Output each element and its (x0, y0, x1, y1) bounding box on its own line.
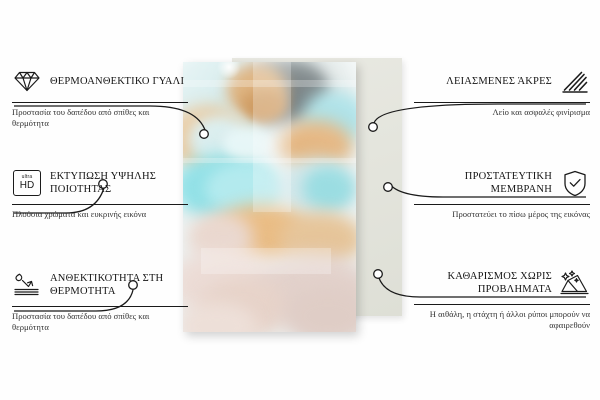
feature-title: ΛΕΙΑΣΜΕΝΕΣ ΆΚΡΕΣ (446, 75, 552, 88)
polished-edges-icon (560, 66, 590, 96)
feature-header: ΑΝΘΕΚΤΙΚΟΤΗΤΑ ΣΤΗ ΘΕΡΜΟΤΗΤΑ (12, 268, 188, 302)
heat-resistance-icon (12, 270, 42, 300)
feature-description: Προστατεύει το πίσω μέρος της εικόνας (414, 209, 590, 220)
divider (12, 102, 188, 103)
feature-description: Η αιθάλη, η στάχτη ή άλλοι ρύποι μπορούν… (414, 309, 590, 331)
shield-check-icon (560, 168, 590, 198)
feature-title: ΠΡΟΣΤΑΤΕΥΤΙΚΗ ΜΕΜΒΡΑΝΗ (414, 170, 552, 196)
feature-header: ΘΕΡΜΟΑΝΘΕΚΤΙΚΟ ΓΥΑΛΙ (12, 64, 188, 98)
product-illustration (180, 58, 410, 348)
feature-header: ultra HD ΕΚΤΥΠΩΣΗ ΥΨΗΛΗΣ ΠΟΙΟΤΗΤΑΣ (12, 166, 188, 200)
divider (414, 304, 590, 305)
divider (414, 102, 590, 103)
feature-block-protective-film[interactable]: ΠΡΟΣΤΑΤΕΥΤΙΚΗ ΜΕΜΒΡΑΝΗ Προστατεύει το πί… (414, 166, 590, 220)
feature-block-thermal-glass[interactable]: ΘΕΡΜΟΑΝΘΕΚΤΙΚΟ ΓΥΑΛΙ Προστασία του δαπέδ… (12, 64, 188, 129)
infographic-canvas: ΘΕΡΜΟΑΝΘΕΚΤΙΚΟ ΓΥΑΛΙ Προστασία του δαπέδ… (0, 0, 600, 400)
feature-header: ΛΕΙΑΣΜΕΝΕΣ ΆΚΡΕΣ (414, 64, 590, 98)
feature-block-heat-resistance[interactable]: ΑΝΘΕΚΤΙΚΟΤΗΤΑ ΣΤΗ ΘΕΡΜΟΤΗΤΑ Προστασία το… (12, 268, 188, 333)
marble-ink-artwork (183, 62, 356, 332)
feature-title: ΕΚΤΥΠΩΣΗ ΥΨΗΛΗΣ ΠΟΙΟΤΗΤΑΣ (50, 170, 188, 196)
ultra-hd-icon: ultra HD (12, 168, 42, 198)
ultra-hd-large-label: HD (20, 181, 34, 191)
feature-title: ΚΑΘΑΡΙΣΜΟΣ ΧΩΡΙΣ ΠΡΟΒΛΗΜΑΤΑ (414, 270, 552, 296)
diamond-icon (12, 66, 42, 96)
feature-description: Λείο και ασφαλές φινίρισμα (414, 107, 590, 118)
feature-description: Προστασία του δαπέδου από σπίθες και θερ… (12, 311, 188, 333)
feature-header: ΚΑΘΑΡΙΣΜΟΣ ΧΩΡΙΣ ΠΡΟΒΛΗΜΑΤΑ (414, 266, 590, 300)
divider (12, 306, 188, 307)
feature-block-polished-edges[interactable]: ΛΕΙΑΣΜΕΝΕΣ ΆΚΡΕΣ Λείο και ασφαλές φινίρι… (414, 64, 590, 118)
feature-block-hd-print[interactable]: ultra HD ΕΚΤΥΠΩΣΗ ΥΨΗΛΗΣ ΠΟΙΟΤΗΤΑΣ Πλούσ… (12, 166, 188, 220)
easy-clean-icon (560, 268, 590, 298)
feature-header: ΠΡΟΣΤΑΤΕΥΤΙΚΗ ΜΕΜΒΡΑΝΗ (414, 166, 590, 200)
divider (12, 204, 188, 205)
feature-title: ΘΕΡΜΟΑΝΘΕΚΤΙΚΟ ΓΥΑΛΙ (50, 75, 184, 88)
divider (414, 204, 590, 205)
feature-title: ΑΝΘΕΚΤΙΚΟΤΗΤΑ ΣΤΗ ΘΕΡΜΟΤΗΤΑ (50, 272, 188, 298)
feature-block-easy-clean[interactable]: ΚΑΘΑΡΙΣΜΟΣ ΧΩΡΙΣ ΠΡΟΒΛΗΜΑΤΑ Η αιθάλη, η … (414, 266, 590, 331)
feature-description: Πλούσια χρώματα και ευκρινής εικόνα (12, 209, 188, 220)
glass-panel-artwork (183, 62, 356, 332)
feature-description: Προστασία του δαπέδου από σπίθες και θερ… (12, 107, 188, 129)
